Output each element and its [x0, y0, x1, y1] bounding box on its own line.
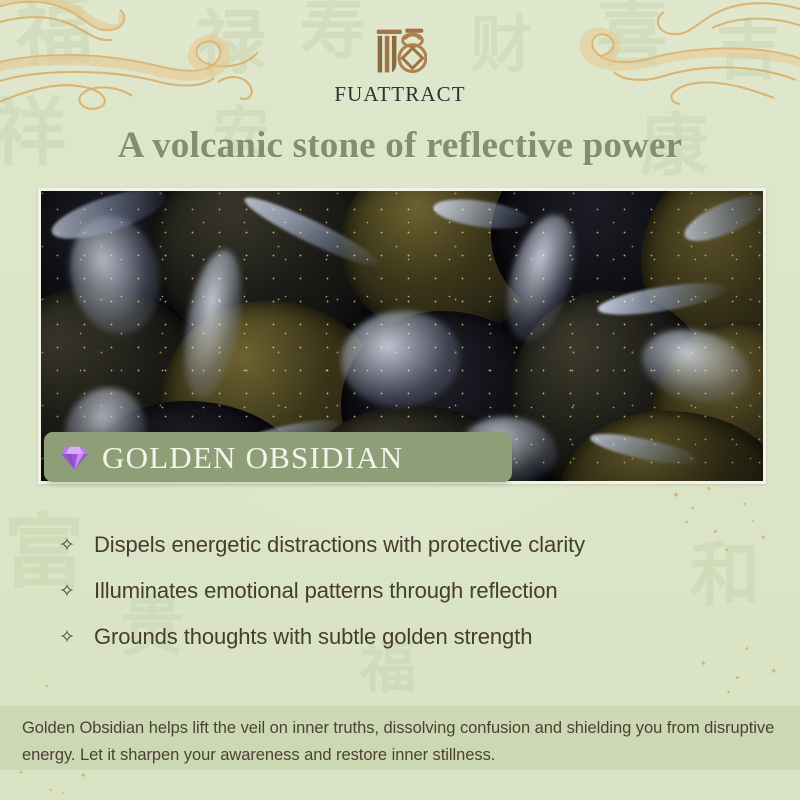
sparkle-icon: ✦ — [700, 660, 707, 668]
benefit-text: Dispels energetic distractions with prot… — [94, 532, 585, 558]
sparkle-icon: ✦ — [672, 492, 680, 501]
benefit-text: Illuminates emotional patterns through r… — [94, 578, 557, 604]
sparkle-icon: ✧ — [58, 628, 76, 647]
list-item: ✧ Grounds thoughts with subtle golden st… — [58, 614, 760, 660]
sparkle-icon: ✧ — [58, 536, 76, 555]
sparkle-icon: ✦ — [48, 788, 53, 794]
page-title: A volcanic stone of reflective power — [0, 124, 800, 167]
sparkle-dot — [62, 792, 64, 794]
sparkle-icon: ✦ — [726, 690, 731, 696]
brand-wordmark: FUATTRACT — [334, 82, 465, 107]
sparkle-icon: ✦ — [80, 772, 87, 780]
sparkle-icon: ✦ — [44, 684, 49, 690]
sparkle-icon: ✦ — [18, 770, 24, 777]
poster-root: 福 禄 寿 财 喜 吉 祥 安 康 富 贵 和 福 — [0, 0, 800, 800]
sparkle-icon: ✦ — [706, 486, 712, 493]
sparkle-icon: ✦ — [770, 668, 778, 677]
fuattract-vessel-mark-icon — [373, 26, 427, 76]
stone-name-label: GOLDEN OBSIDIAN — [102, 442, 403, 473]
sparkle-icon: ✦ — [742, 502, 747, 508]
sparkle-dot — [736, 676, 739, 679]
sparkle-icon: ✦ — [760, 534, 767, 542]
footer-description: Golden Obsidian helps lift the veil on i… — [22, 715, 780, 768]
list-item: ✧ Illuminates emotional patterns through… — [58, 568, 760, 614]
list-item: ✧ Dispels energetic distractions with pr… — [58, 522, 760, 568]
sparkle-icon: ✧ — [58, 582, 76, 601]
benefit-list: ✧ Dispels energetic distractions with pr… — [58, 522, 760, 660]
footer-band: Golden Obsidian helps lift the veil on i… — [0, 705, 800, 770]
sparkle-icon: ✦ — [690, 506, 695, 512]
benefit-text: Grounds thoughts with subtle golden stre… — [94, 624, 532, 650]
stone-name-banner: GOLDEN OBSIDIAN — [44, 432, 512, 482]
brand-logo: FUATTRACT — [0, 26, 800, 107]
gem-icon — [60, 444, 89, 471]
